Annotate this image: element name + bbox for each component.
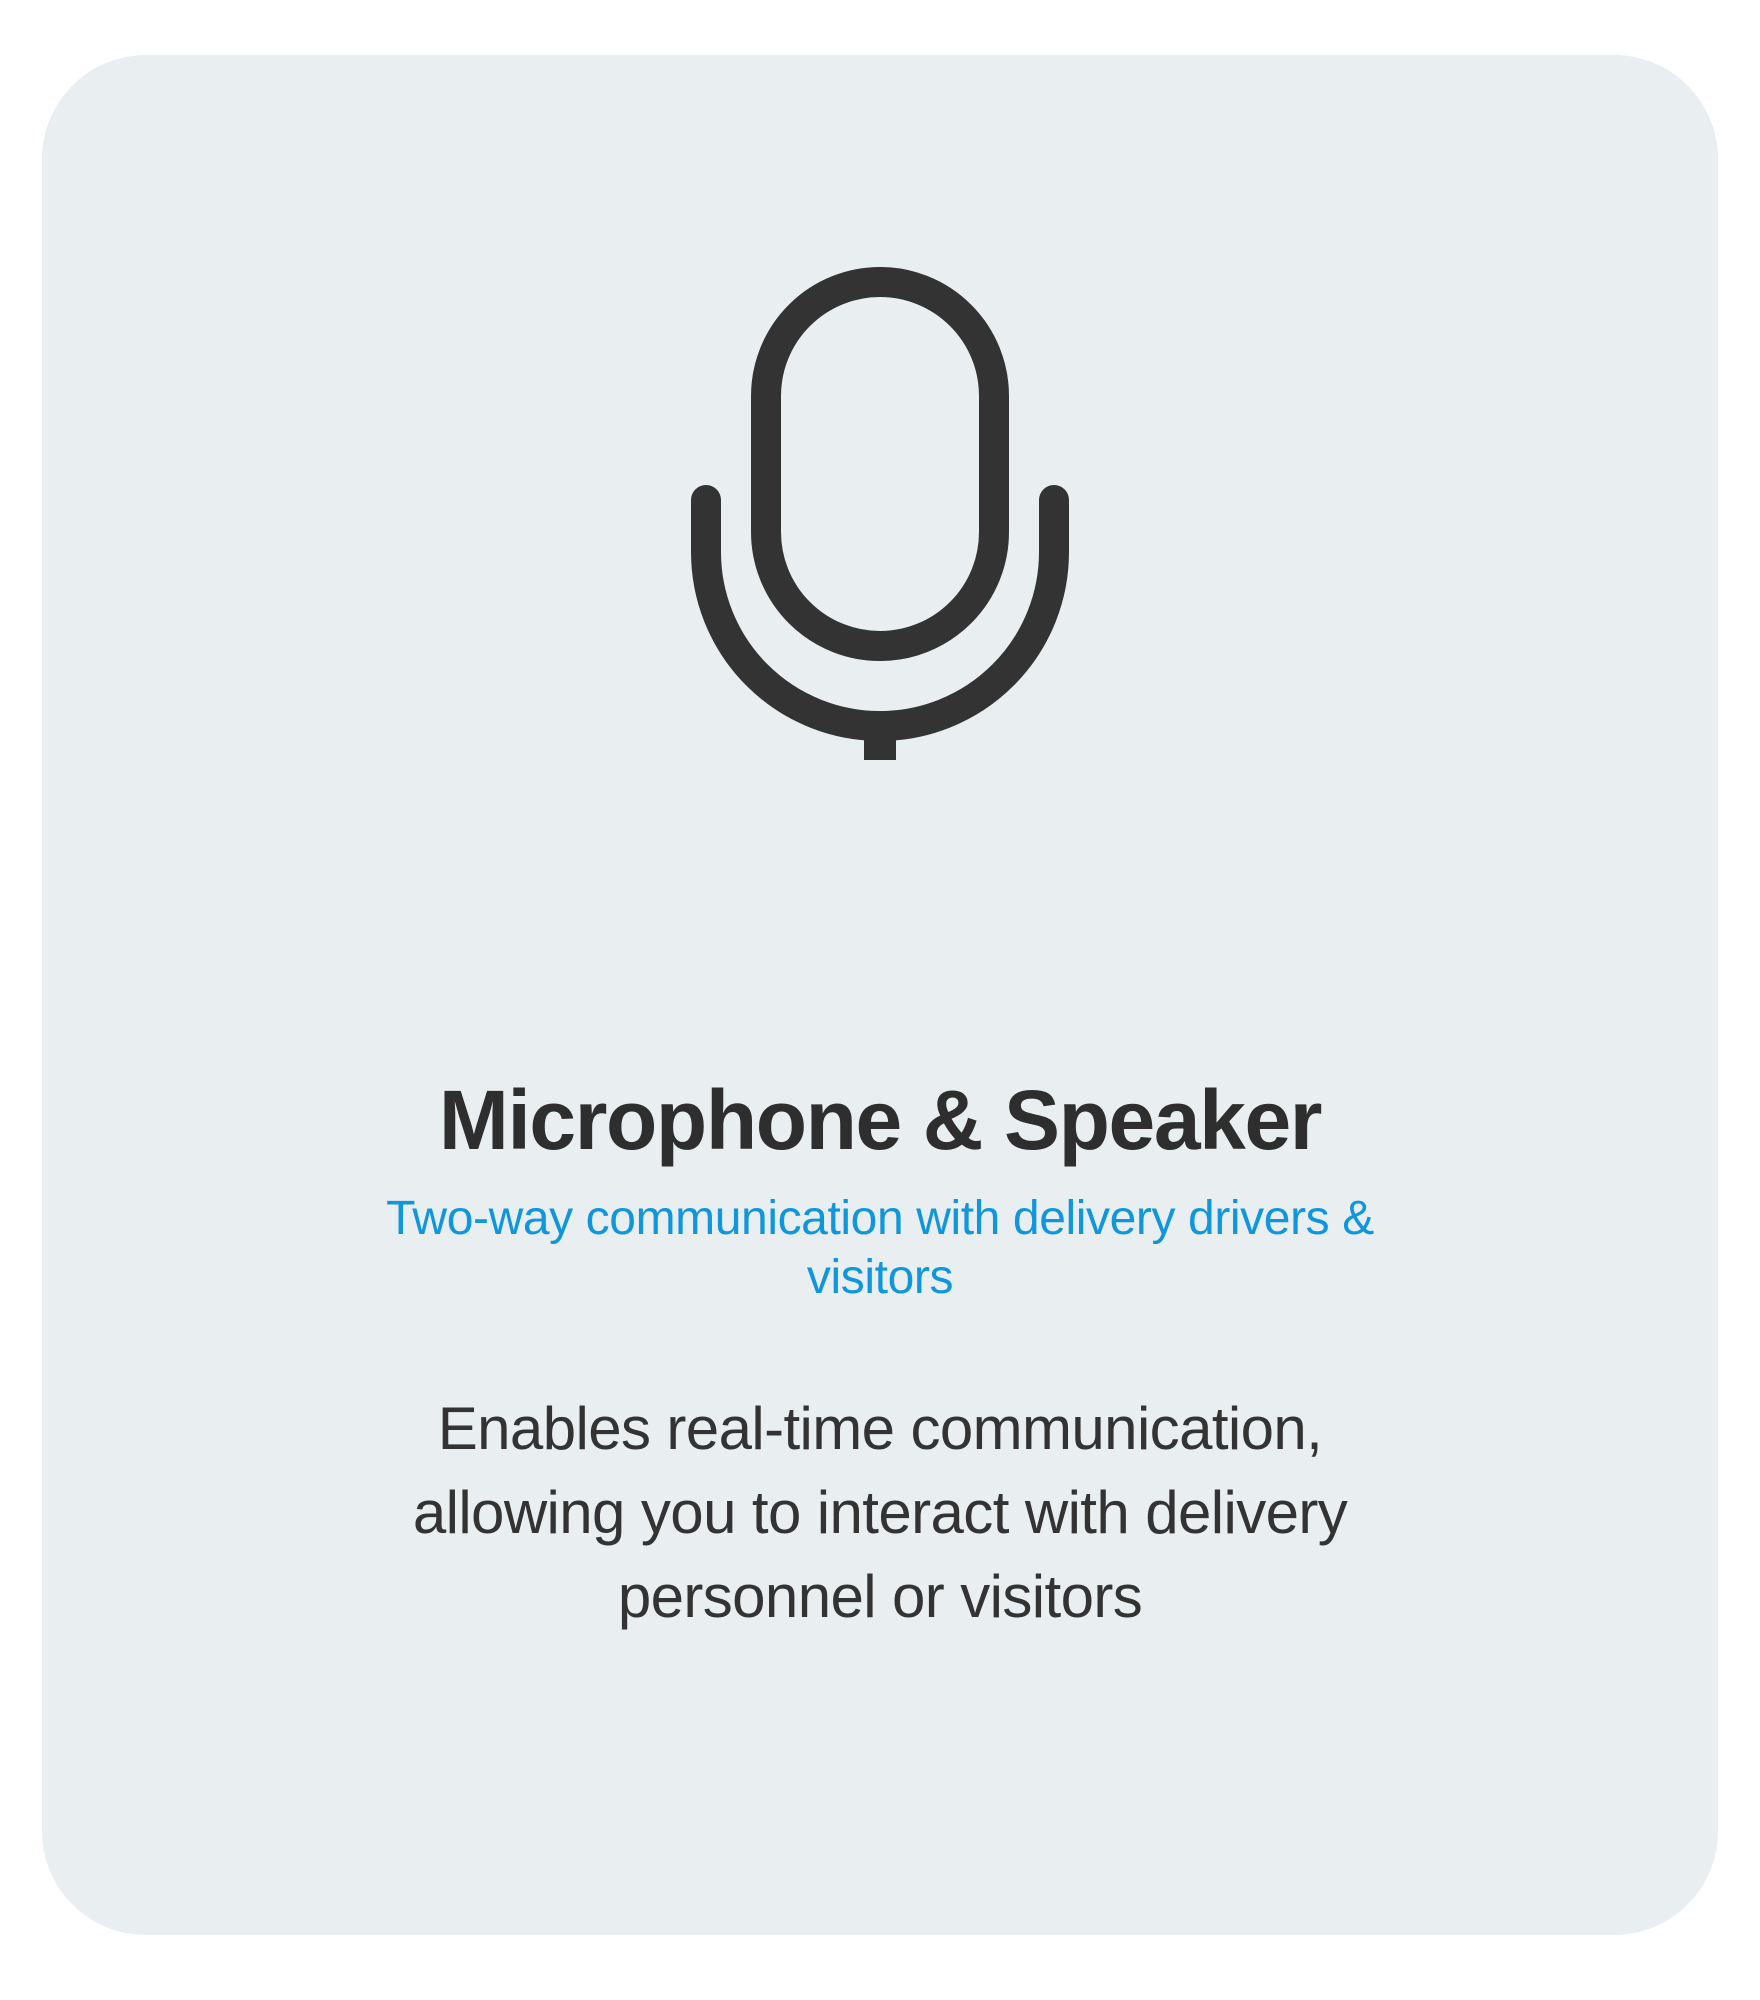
page-root: Microphone & Speaker Two-way communicati…	[0, 0, 1760, 2000]
feature-text-block: Microphone & Speaker Two-way communicati…	[42, 1077, 1718, 1639]
feature-card: Microphone & Speaker Two-way communicati…	[42, 55, 1718, 1935]
page-title: Microphone & Speaker	[439, 1077, 1321, 1164]
feature-subtitle: Two-way communication with delivery driv…	[365, 1190, 1395, 1307]
microphone-icon	[680, 200, 1080, 760]
feature-description: Enables real-time communication, allowin…	[380, 1387, 1380, 1639]
